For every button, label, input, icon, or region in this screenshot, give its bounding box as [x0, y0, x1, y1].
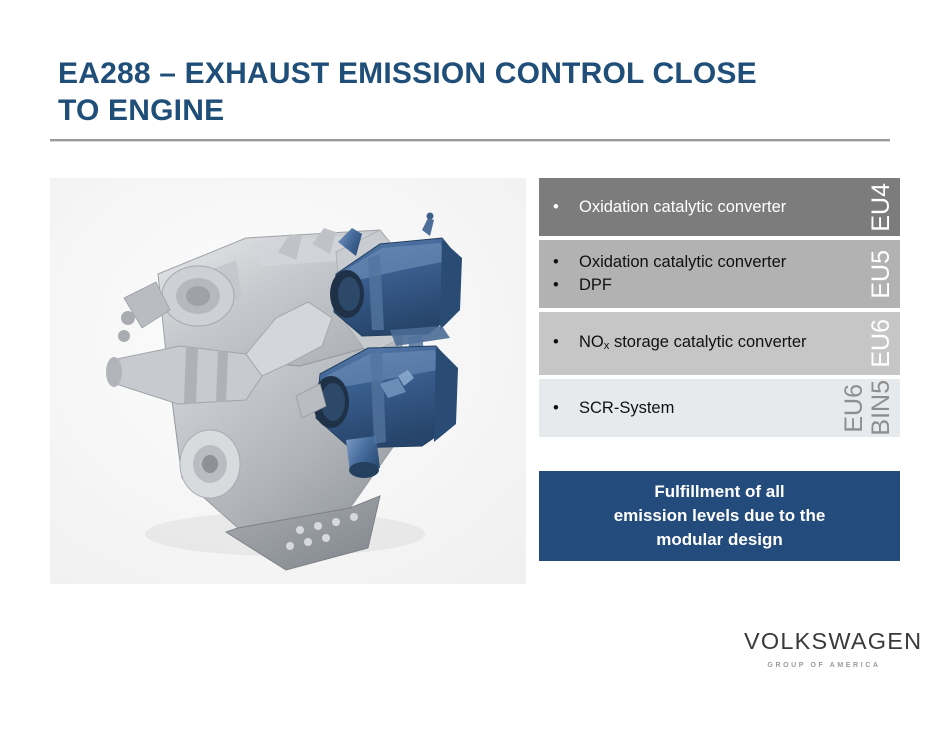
emission-row-eu4: • Oxidation catalytic converter EU4: [539, 178, 900, 236]
standard-label-eu4: EU4: [869, 183, 894, 232]
bullet-item: • SCR-System: [553, 397, 848, 420]
bullet-item: • Oxidation catalytic converter: [553, 196, 848, 219]
title-divider: [50, 139, 890, 142]
bullet-item: • Oxidation catalytic converter: [553, 251, 848, 274]
bullet-icon: •: [553, 331, 579, 354]
logo-subtext: GROUP OF AMERICA: [744, 662, 904, 669]
engine-image-panel: [50, 178, 526, 584]
emission-row-eu6-bin5: • SCR-System EU6 BIN5: [539, 379, 900, 437]
bullet-label: NOx storage catalytic converter: [579, 331, 848, 356]
standard-label-group: EU6 BIN5: [842, 379, 894, 437]
emission-row-eu5: • Oxidation catalytic converter • DPF EU…: [539, 240, 900, 308]
volkswagen-logo: VOLKSWAGEN GROUP OF AMERICA: [744, 630, 904, 669]
bullet-label: Oxidation catalytic converter: [579, 251, 848, 274]
bullet-label: SCR-System: [579, 397, 848, 420]
standard-label-group: EU4: [869, 178, 894, 236]
standard-label-eu6: EU6: [842, 384, 867, 433]
emission-standards-list: • Oxidation catalytic converter EU4 • Ox…: [539, 178, 900, 437]
bullet-icon: •: [553, 196, 579, 219]
bullet-icon: •: [553, 274, 579, 297]
standard-label-bin5: BIN5: [869, 380, 894, 436]
bullet-label: Oxidation catalytic converter: [579, 196, 848, 219]
bullet-icon: •: [553, 397, 579, 420]
bullet-item: • DPF: [553, 274, 848, 297]
page-title: EA288 – Exhaust emission control close t…: [58, 55, 888, 129]
standard-label-group: EU5: [869, 240, 894, 308]
standard-label-eu5: EU5: [869, 250, 894, 299]
standard-label-eu6: EU6: [869, 319, 894, 368]
standard-label-group: EU6: [869, 312, 894, 375]
bullet-label: DPF: [579, 274, 848, 297]
bullet-icon: •: [553, 251, 579, 274]
callout-text: Fulfillment of all emission levels due t…: [600, 480, 840, 552]
logo-wordmark: VOLKSWAGEN: [744, 630, 904, 654]
engine-illustration: [50, 178, 526, 584]
callout-box: Fulfillment of all emission levels due t…: [539, 471, 900, 561]
emission-row-eu6: • NOx storage catalytic converter EU6: [539, 312, 900, 375]
bullet-item: • NOx storage catalytic converter: [553, 331, 848, 356]
